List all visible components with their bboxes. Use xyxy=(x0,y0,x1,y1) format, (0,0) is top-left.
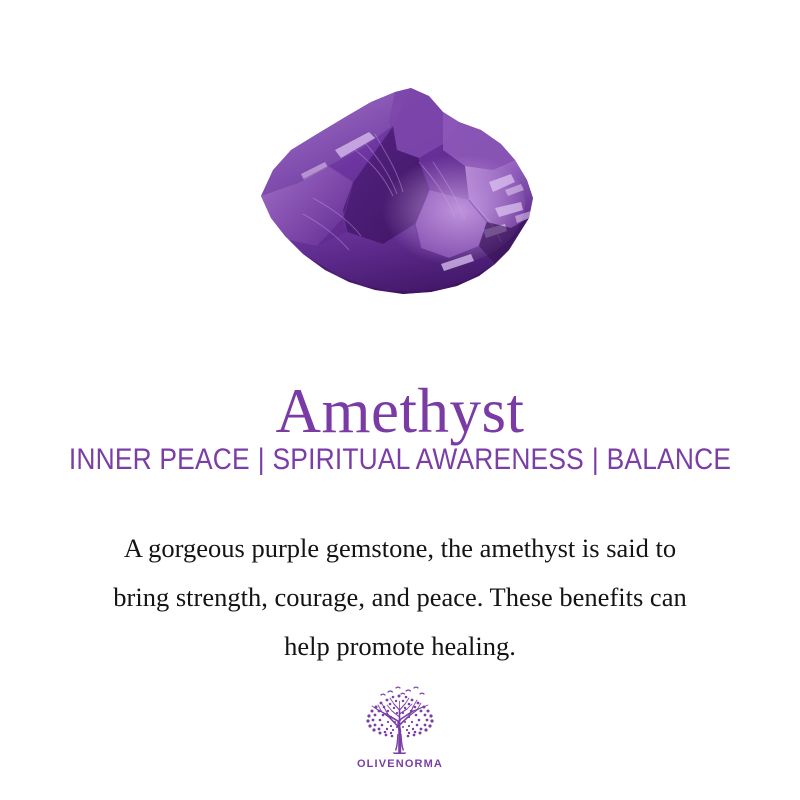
brand-logo: OLIVENORMA xyxy=(0,684,800,770)
keyword-separator-1: | xyxy=(250,441,273,479)
keyword-balance: BALANCE xyxy=(607,443,731,476)
brand-name: OLIVENORMA xyxy=(0,758,800,770)
amethyst-info-card: Amethyst INNER PEACE|SPIRITUAL AWARENESS… xyxy=(0,0,800,800)
gemstone-image-area xyxy=(0,0,800,320)
description-line-2: bring strength, courage, and peace. Thes… xyxy=(55,573,745,622)
keyword-spiritual-awareness: SPIRITUAL AWARENESS xyxy=(272,443,583,476)
keyword-separator-2: | xyxy=(584,441,607,479)
keyword-inner-peace: INNER PEACE xyxy=(69,443,250,476)
description-text: A gorgeous purple gemstone, the amethyst… xyxy=(55,524,745,671)
raw-amethyst-crystal-image xyxy=(243,78,557,304)
description-line-3: help promote healing. xyxy=(55,622,745,671)
tree-with-birds-icon xyxy=(354,684,446,756)
description-line-1: A gorgeous purple gemstone, the amethyst… xyxy=(55,524,745,573)
keyword-list: INNER PEACE|SPIRITUAL AWARENESS|BALANCE xyxy=(48,441,752,479)
page-title: Amethyst xyxy=(0,373,800,449)
